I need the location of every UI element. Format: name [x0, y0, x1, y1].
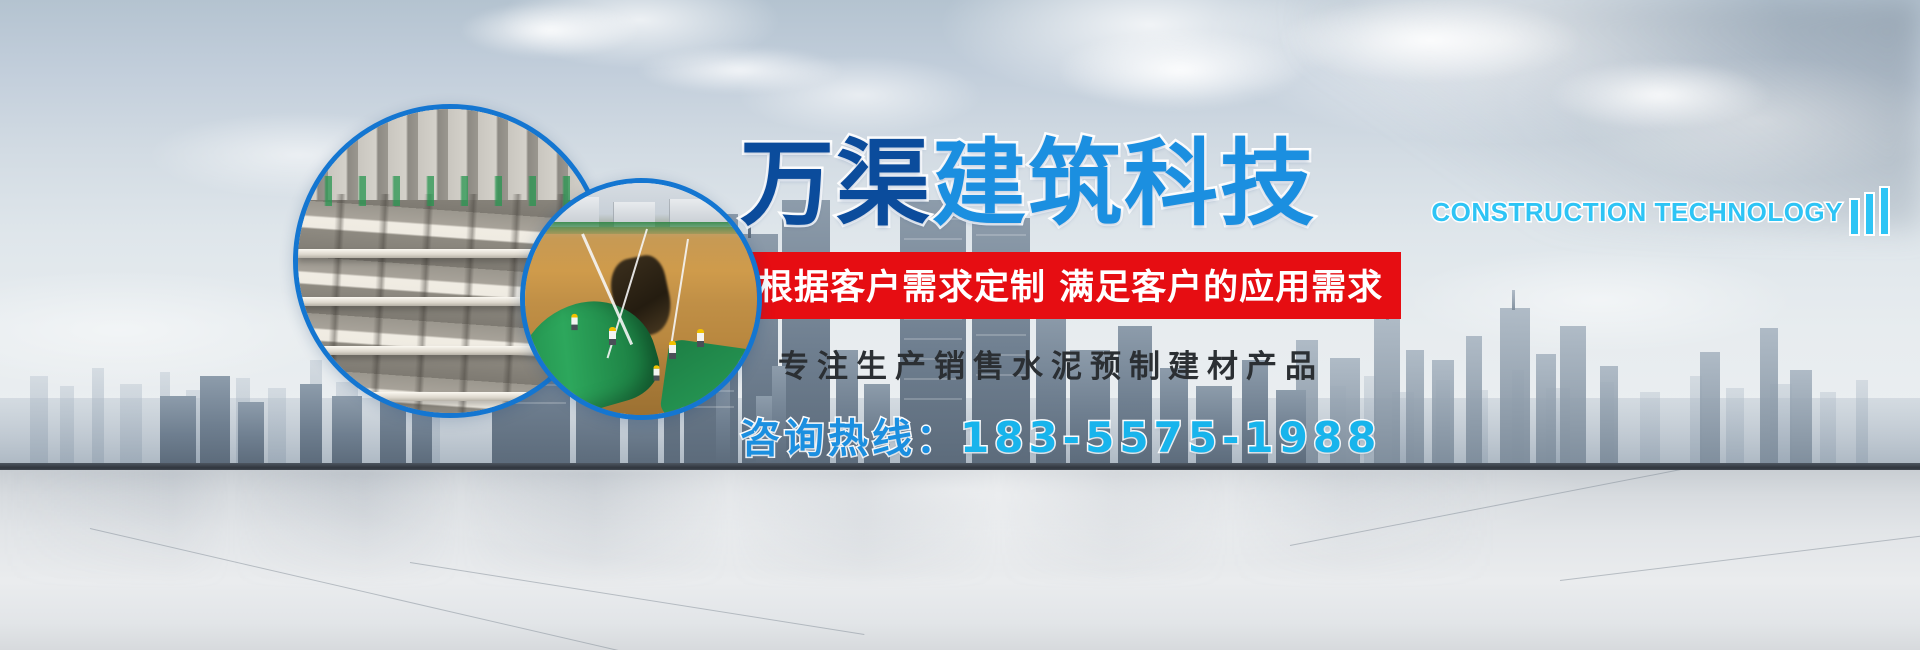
hotline-row: 咨询热线： 183-5575-1988: [740, 406, 1890, 464]
site-worker: [572, 314, 578, 330]
promo-banner: 万渠 建筑科技 CONSTRUCTION TECHNOLOGY 根据客户需求定制…: [0, 0, 1920, 650]
site-worker: [609, 327, 616, 345]
bar-accent-icon: [1849, 186, 1890, 236]
guy-cable: [671, 239, 690, 345]
ground-gloss: [0, 470, 1920, 650]
brand-title-row: 万渠 建筑科技 CONSTRUCTION TECHNOLOGY: [740, 120, 1890, 232]
site-safety-net: [525, 222, 757, 234]
banner-text-block: 万渠 建筑科技 CONSTRUCTION TECHNOLOGY 根据客户需求定制…: [740, 120, 1890, 464]
construction-site-image: [525, 183, 757, 415]
brand-english-row: CONSTRUCTION TECHNOLOGY: [1431, 186, 1890, 238]
brand-english-subtitle: CONSTRUCTION TECHNOLOGY: [1431, 197, 1843, 228]
site-worker: [653, 365, 659, 380]
hotline-label: 咨询热线：: [740, 406, 960, 464]
red-slogan-banner: 根据客户需求定制 满足客户的应用需求: [740, 252, 1401, 319]
red-slogan-text: 根据客户需求定制 满足客户的应用需求: [758, 268, 1383, 308]
reflective-ground: [0, 470, 1920, 650]
brand-name-secondary: 建筑科技: [932, 138, 1316, 232]
brand-name-primary: 万渠: [740, 138, 932, 232]
product-photo-circle-secondary: [520, 178, 762, 420]
site-worker: [669, 341, 676, 359]
hotline-number: 183-5575-1988: [960, 413, 1381, 462]
site-worker: [697, 329, 704, 347]
tagline-text: 专注生产销售水泥预制建材产品: [740, 341, 1890, 386]
